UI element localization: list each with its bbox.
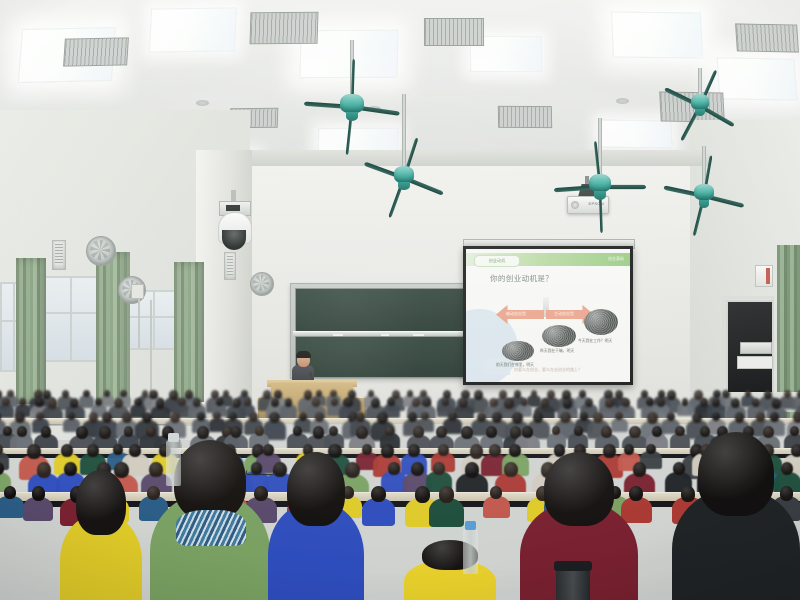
slide-photo-center <box>542 325 576 347</box>
window <box>40 276 100 362</box>
audience-member-head <box>629 426 640 438</box>
wall-fan <box>86 236 114 274</box>
wall-fan-blades <box>90 240 110 260</box>
audience-member-head <box>41 426 52 438</box>
audience-member-head <box>407 390 413 397</box>
audience-member-head <box>17 426 27 437</box>
audience-member-head <box>83 390 90 397</box>
audience-member-head <box>114 398 123 408</box>
audience-member-head <box>547 390 555 399</box>
audience-member-head <box>580 412 588 421</box>
eyeglasses <box>246 470 274 475</box>
fan-motor-housing <box>589 174 611 192</box>
wall-speaker <box>224 252 236 280</box>
audience-member-head <box>313 426 325 439</box>
audience-member-head <box>492 412 502 423</box>
audience-member-head <box>682 398 689 406</box>
audience-member-head <box>574 426 583 436</box>
audience-member-head <box>415 486 430 503</box>
window-mullion <box>70 278 72 360</box>
audience-member-head <box>254 486 268 501</box>
audience-member-head <box>392 390 400 399</box>
audience-member-head <box>486 426 497 438</box>
audience-member-head <box>465 462 479 478</box>
audience-member-head <box>344 398 352 407</box>
audience-member-head <box>603 444 616 458</box>
audience-member-head <box>48 398 58 409</box>
black-jacket-student-head <box>698 432 775 516</box>
audience-member-head <box>770 412 779 422</box>
audience-member-head <box>293 426 302 436</box>
window-mullion <box>153 292 155 348</box>
audience-member-head <box>646 444 655 454</box>
blackboard-lower-panel <box>295 336 471 378</box>
ceiling-light-panel <box>149 7 237 52</box>
ceiling-fan <box>700 96 701 97</box>
wall-equipment-box <box>740 342 772 354</box>
audience-member-head <box>113 444 123 455</box>
audience-member-head <box>95 398 102 406</box>
audience-member-head <box>255 426 264 436</box>
audience-member-body <box>611 418 628 432</box>
audience-member-head <box>330 390 336 397</box>
audience-member-head <box>411 462 424 476</box>
fan-motor-cap <box>398 182 409 190</box>
ceiling-vent <box>498 106 552 128</box>
audience-member-head <box>371 486 386 502</box>
audience-member-head <box>459 398 468 408</box>
audience-member-head <box>146 426 156 437</box>
wall-fan-blades <box>253 275 269 291</box>
wall-switch-plate[interactable] <box>131 284 144 299</box>
audience-member-head <box>381 444 393 458</box>
audience-member-head <box>531 390 537 397</box>
audience-member-head <box>388 398 395 406</box>
fan-drop-rod <box>402 94 406 168</box>
audience-member-head <box>2 398 9 406</box>
audience-member-head <box>19 398 26 406</box>
audience-member-head <box>448 412 456 421</box>
audience-member-head <box>647 412 658 424</box>
audience-member-head <box>408 444 420 457</box>
fan-motor-cap <box>699 200 710 208</box>
audience-member-head <box>675 426 684 436</box>
audience-member-head <box>442 398 449 406</box>
presenter-hair <box>296 351 311 358</box>
audience-member-head <box>470 444 483 459</box>
audience-member-head <box>87 444 99 457</box>
audience-member-head <box>223 390 229 397</box>
fan-drop-rod <box>698 68 702 96</box>
ceiling-fan <box>352 96 353 97</box>
audience-member-head <box>178 398 186 406</box>
audience-member-head <box>231 426 242 438</box>
audience-member-head <box>124 426 134 437</box>
audience-member-head <box>722 390 729 398</box>
audience-member-head <box>601 426 612 438</box>
audience-member-head <box>641 390 648 398</box>
audience-member-head <box>764 390 772 399</box>
audience-member-head <box>345 462 360 478</box>
window-mullion <box>13 284 15 370</box>
audience-member-head <box>763 426 774 438</box>
audience-member-head <box>7 390 14 397</box>
water-bottle-far <box>166 440 181 486</box>
audience-member-head <box>474 390 483 400</box>
slide-caption: 今天我在工作？明天 <box>578 339 612 344</box>
audience-member-head <box>780 486 793 501</box>
audience-member-head <box>129 444 141 457</box>
audience-member-head <box>285 398 293 407</box>
slide-arrow-right-label: 主动创业型 <box>554 311 574 317</box>
audience-member-head <box>193 398 201 407</box>
audience-member-head <box>629 486 643 501</box>
water-bottle-far-cap <box>168 433 179 442</box>
audience-member-head <box>4 486 16 499</box>
audience-member-head <box>477 412 486 422</box>
ceiling-fan <box>600 176 601 177</box>
audience-member-head <box>504 398 514 409</box>
audience-member-head <box>673 462 685 475</box>
audience-member-head <box>331 398 338 406</box>
audience-member-head <box>791 444 800 457</box>
blue-hoodie-student-head <box>287 452 345 526</box>
audience-member-head <box>622 398 630 407</box>
audience-member-head <box>731 398 740 408</box>
audience-member-head <box>793 412 800 423</box>
audience-member-head <box>156 398 166 409</box>
wall-speaker <box>52 240 66 270</box>
audience-member-body <box>0 496 24 519</box>
audience-member-head <box>521 398 528 406</box>
audience-member-head <box>461 426 473 439</box>
wall-outlet-panel[interactable] <box>737 356 773 369</box>
audience-member-head <box>15 412 25 423</box>
projector-lens <box>571 201 579 209</box>
audience-member-head <box>122 412 132 423</box>
audience-member-head <box>263 390 271 399</box>
ceiling-light-panel <box>599 120 672 149</box>
smoke-detector <box>196 100 209 106</box>
audience-member-head <box>681 486 695 502</box>
audience-member-head <box>560 412 570 423</box>
audience-member-head <box>585 398 593 407</box>
slide-footer-text: 你要么在创业，要么在去创业的路上？ <box>514 367 582 373</box>
audience-member-head <box>657 398 665 407</box>
projection-screen: 创业动机 创业基础 你的创业动机是？ 被动创业型 主动创业型 今天我在工作？明天… <box>463 246 633 385</box>
audience-member-head <box>304 390 313 400</box>
window-mullion <box>128 316 178 318</box>
audience-member-head <box>356 412 365 422</box>
ceiling-light-panel <box>717 57 798 100</box>
audience-member-head <box>438 444 449 456</box>
ceiling-vent <box>735 23 799 52</box>
audience-member-head <box>377 412 388 424</box>
audience-member-head <box>185 390 193 399</box>
ceiling-beam <box>240 150 710 166</box>
audience-member-head <box>99 426 111 439</box>
audience-member-head <box>646 398 654 406</box>
audience-member-head <box>3 426 12 436</box>
green-fleece-student-head <box>174 440 246 520</box>
audience-member-head <box>772 398 782 409</box>
audience-member-head <box>27 444 40 459</box>
audience-member-head <box>273 462 287 477</box>
slide-photo-right <box>584 309 618 335</box>
wall-fan <box>250 272 272 304</box>
audience-member-head <box>784 390 791 398</box>
audience-member-head <box>439 486 454 503</box>
audience-member-head <box>504 462 518 477</box>
audience-member-head <box>316 390 322 397</box>
audience-member-head <box>269 412 279 423</box>
audience-member-head <box>522 426 533 438</box>
audience-member-head <box>61 444 73 457</box>
lecture-hall-photo: 创业动机 创业基础 你的创业动机是？ 被动创业型 主动创业型 今天我在工作？明天… <box>0 0 800 600</box>
slide-arrow-left-label: 被动创业型 <box>506 311 526 317</box>
audience-member-head <box>241 390 247 397</box>
audience-member-head <box>197 426 209 439</box>
audience-member-head <box>700 398 708 407</box>
green-fleece-student-scarf <box>176 510 246 545</box>
audience-member-head <box>563 398 573 409</box>
audience-member-head <box>149 390 157 399</box>
audience-member-head <box>388 462 400 475</box>
audience-member-head <box>249 412 258 422</box>
audience-member-head <box>362 444 372 455</box>
audience-member-head <box>422 398 431 407</box>
water-bottle-cap <box>465 521 476 530</box>
audience-member-head <box>356 426 368 439</box>
audience-member-head <box>667 412 675 421</box>
camera-lens <box>222 230 246 250</box>
audience-member-head <box>244 398 251 406</box>
audience-member-head <box>420 390 426 397</box>
thermos-cup-lid <box>554 561 592 571</box>
slide-title: 你的创业动机是？ <box>490 273 553 284</box>
audience-member-head <box>76 426 88 439</box>
audience-member-head <box>37 462 51 478</box>
audience-member-head <box>213 412 221 420</box>
audience-member-head <box>385 426 394 436</box>
audience-member-head <box>652 426 662 437</box>
audience-member-head <box>89 412 99 423</box>
ceiling-light-panel <box>611 11 703 58</box>
audience-member-head <box>512 412 523 424</box>
blackboard-upper-panel <box>295 288 471 333</box>
audience-member-head <box>667 390 676 400</box>
audience-member-head <box>633 462 647 477</box>
audience-member-head <box>433 462 445 475</box>
maroon-sweater-student-head <box>544 452 615 526</box>
audience-member-head <box>579 390 586 398</box>
water-bottle <box>463 528 478 574</box>
curtain <box>174 262 204 402</box>
window-mullion <box>42 312 98 314</box>
audience <box>0 382 800 600</box>
fan-motor-housing <box>340 94 363 113</box>
audience-member-head <box>371 398 380 408</box>
fan-motor-housing <box>394 166 414 183</box>
audience-member-head <box>169 390 178 400</box>
audience-member-head <box>134 398 141 406</box>
slide-caption: 昨天我在干嘛，明天 <box>540 349 574 354</box>
audience-member-head <box>170 412 180 423</box>
audience-member-head <box>605 398 614 408</box>
slide-header-right-text: 创业基础 <box>608 256 624 262</box>
fan-motor-cap <box>594 191 606 200</box>
audience-member-head <box>408 412 417 422</box>
audience-member-head <box>315 412 324 422</box>
audience-member-head <box>114 462 129 478</box>
audience-member-head <box>102 412 112 423</box>
ceiling-fan <box>704 186 705 187</box>
audience-member-head <box>745 390 751 397</box>
ceiling-vent <box>63 37 129 66</box>
audience-member-head <box>32 486 45 501</box>
presentation-slide: 创业动机 创业基础 你的创业动机是？ 被动创业型 主动创业型 今天我在工作？明天… <box>466 249 630 382</box>
notice-board <box>755 265 773 287</box>
audience-member-head <box>489 398 497 407</box>
audience-member-head <box>35 398 43 407</box>
slide-header-tab: 创业动机 <box>474 255 520 267</box>
audience-member-head <box>509 444 521 457</box>
audience-member-head <box>752 398 760 407</box>
audience-member-head <box>413 426 424 438</box>
audience-member-head <box>70 398 79 408</box>
audience-member-head <box>299 412 307 421</box>
ceiling-fan <box>404 168 405 169</box>
blackboard <box>290 283 472 379</box>
audience-member-head <box>735 412 745 423</box>
smoke-detector <box>616 98 629 104</box>
audience-member-head <box>489 444 501 457</box>
fan-motor-housing <box>694 184 714 200</box>
ceiling-vent <box>424 18 484 46</box>
audience-member-head <box>216 398 223 406</box>
audience-member-head <box>412 398 420 407</box>
audience-member-head <box>142 412 152 423</box>
audience-member-head <box>271 398 279 407</box>
yellow-jacket-student-left-head <box>76 470 125 535</box>
ceiling-vent <box>250 12 319 45</box>
audience-member-head <box>197 412 205 421</box>
dome-security-camera <box>216 190 252 256</box>
slide-photo-left <box>502 341 534 361</box>
fan-motor-housing <box>691 94 710 109</box>
audience-member-head <box>329 426 338 436</box>
audience-member-head <box>263 444 274 456</box>
audience-member-head <box>104 390 110 397</box>
thermos-cup <box>556 566 590 600</box>
audience-member-head <box>149 462 163 477</box>
